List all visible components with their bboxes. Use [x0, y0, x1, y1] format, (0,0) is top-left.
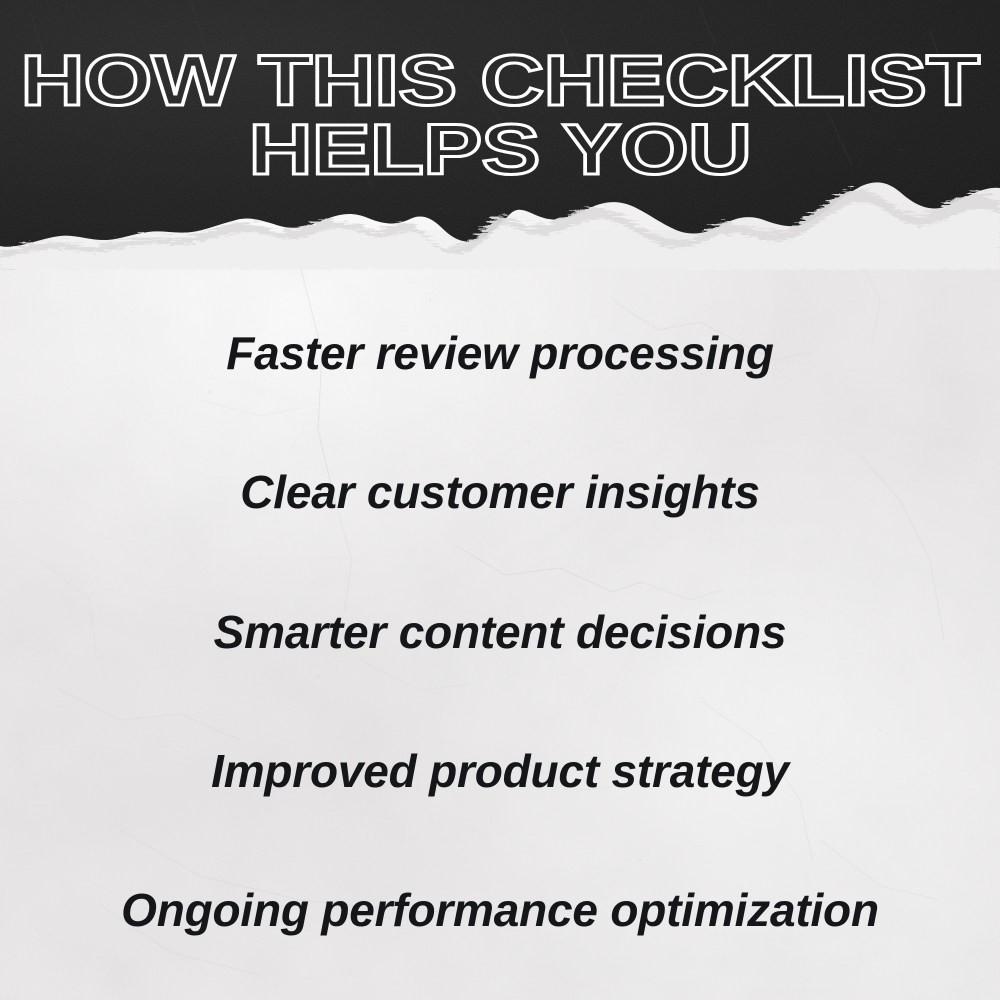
list-item: Ongoing performance optimization	[0, 885, 1000, 936]
torn-paper-edge	[0, 0, 1000, 270]
list-item: Clear customer insights	[0, 467, 1000, 518]
poster-canvas: HOW THIS CHECKLIST HELPS YOU Faster revi…	[0, 0, 1000, 1000]
list-item: Smarter content decisions	[0, 607, 1000, 658]
list-item: Improved product strategy	[0, 746, 1000, 797]
benefits-list: Faster review processing Clear customer …	[0, 278, 1000, 990]
header-dark-band: HOW THIS CHECKLIST HELPS YOU	[0, 0, 1000, 270]
list-item: Faster review processing	[0, 328, 1000, 379]
